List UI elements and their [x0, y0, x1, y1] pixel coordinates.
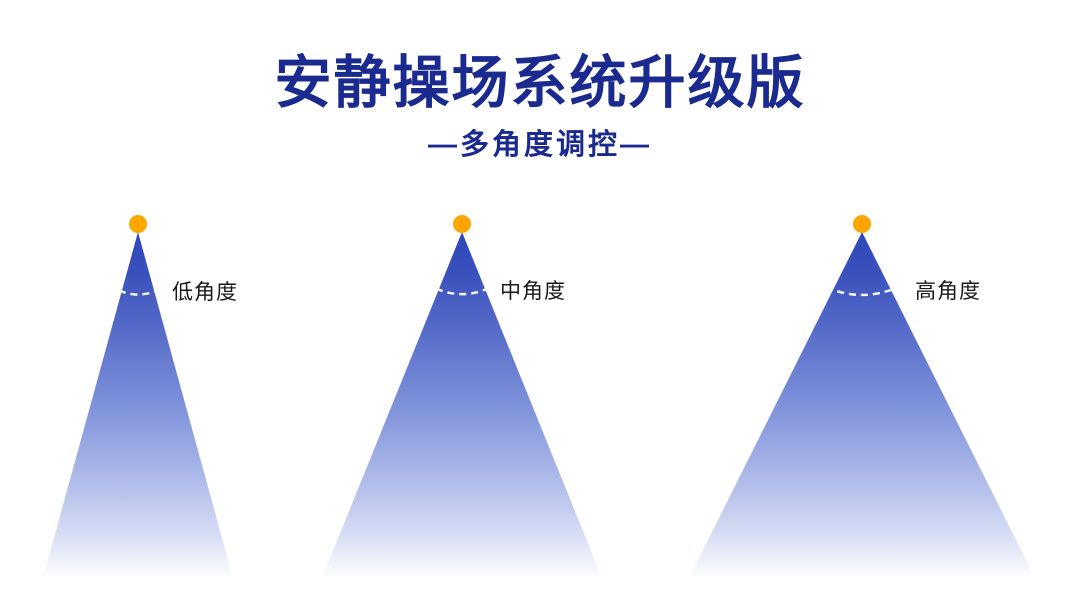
cone-beam — [689, 232, 1035, 578]
cones-stage: 低角度中角度高角度 — [0, 0, 1080, 616]
cone-cone-low — [43, 215, 233, 578]
cone-cone-mid — [322, 215, 602, 578]
cone-label-cone-high: 高角度 — [915, 281, 981, 302]
cone-label-cone-mid: 中角度 — [500, 281, 566, 302]
slide-canvas: 安静操场系统升级版 —多角度调控— 低角度中角度高角度 — [0, 0, 1080, 616]
emitter-dot-icon — [129, 215, 147, 233]
cone-cone-high — [689, 215, 1035, 578]
cone-label-cone-low: 低角度 — [172, 282, 238, 303]
cones-diagram — [0, 0, 1080, 616]
emitter-dot-icon — [453, 215, 471, 233]
emitter-dot-icon — [853, 215, 871, 233]
